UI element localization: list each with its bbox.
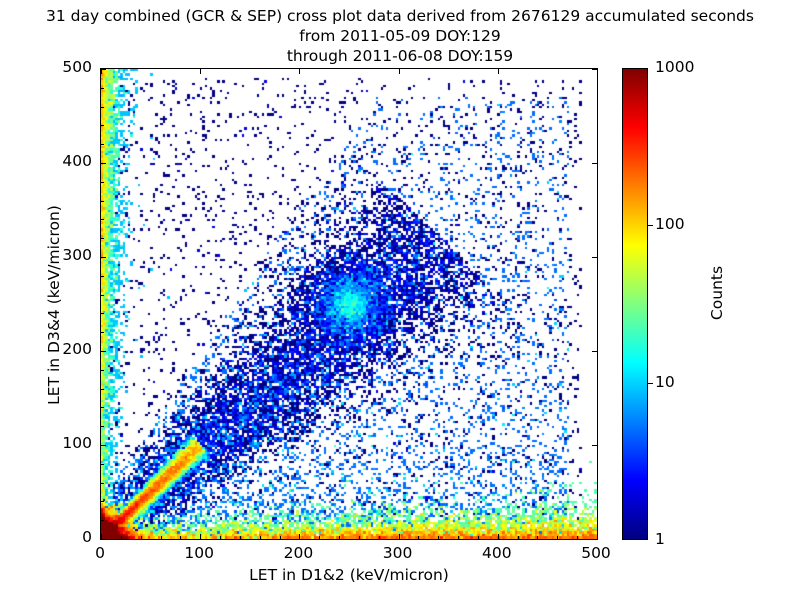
x-tick-minor xyxy=(577,536,578,539)
y-tick xyxy=(101,163,106,164)
x-tick-minor xyxy=(280,536,281,539)
x-tick-top xyxy=(597,69,598,74)
y-tick xyxy=(101,257,106,258)
y-tick-right xyxy=(592,69,597,70)
x-tick xyxy=(200,534,201,539)
y-tick-minor xyxy=(101,182,104,183)
y-tick-minor xyxy=(101,144,104,145)
y-tick-right xyxy=(592,163,597,164)
y-tick-minor xyxy=(101,276,104,277)
x-tick-minor xyxy=(379,536,380,539)
x-tick-top xyxy=(498,69,499,74)
x-tick-minor xyxy=(339,536,340,539)
y-tick-minor xyxy=(101,501,104,502)
x-tick-minor xyxy=(220,536,221,539)
x-tick-minor xyxy=(260,536,261,539)
x-tick xyxy=(597,534,598,539)
x-tick-top xyxy=(399,69,400,74)
x-tick-minor xyxy=(458,536,459,539)
y-tick-minor xyxy=(101,313,104,314)
x-tick-label: 400 xyxy=(467,544,527,562)
y-tick-label: 0 xyxy=(32,528,92,546)
x-tick-label: 0 xyxy=(70,544,130,562)
colorbar-tick xyxy=(648,383,653,384)
colorbar-tick-label: 10 xyxy=(655,373,675,391)
colorbar-tick-label: 1000 xyxy=(655,58,694,76)
colorbar-tick-label: 1 xyxy=(655,530,665,548)
y-tick-right xyxy=(592,257,597,258)
y-tick-minor xyxy=(101,295,104,296)
title-line-1: 31 day combined (GCR & SEP) cross plot d… xyxy=(0,6,800,26)
x-tick-minor xyxy=(359,536,360,539)
y-tick-minor xyxy=(101,389,104,390)
y-tick-minor xyxy=(101,107,104,108)
y-tick xyxy=(101,351,106,352)
title-line-2: from 2011-05-09 DOY:129 xyxy=(0,26,800,46)
x-tick-minor xyxy=(141,536,142,539)
y-tick-right xyxy=(592,539,597,540)
x-tick-minor xyxy=(537,536,538,539)
colorbar-tick-label: 100 xyxy=(655,215,685,233)
y-tick xyxy=(101,445,106,446)
y-tick-minor xyxy=(101,483,104,484)
x-tick-minor xyxy=(418,536,419,539)
x-tick-top xyxy=(200,69,201,74)
colorbar xyxy=(622,68,648,540)
x-tick-minor xyxy=(121,536,122,539)
colorbar-label: Counts xyxy=(708,203,726,383)
y-tick-minor xyxy=(101,520,104,521)
y-axis-label: LET in D3&4 (keV/micron) xyxy=(45,125,63,485)
y-tick-minor xyxy=(101,238,104,239)
y-tick xyxy=(101,539,106,540)
x-tick-label: 300 xyxy=(368,544,428,562)
y-tick-minor xyxy=(101,407,104,408)
plot-area xyxy=(100,68,598,540)
x-tick-minor xyxy=(180,536,181,539)
y-tick-minor xyxy=(101,464,104,465)
y-tick xyxy=(101,69,106,70)
colorbar-gradient xyxy=(623,69,647,539)
x-tick-minor xyxy=(240,536,241,539)
y-tick-minor xyxy=(101,370,104,371)
x-tick-minor xyxy=(478,536,479,539)
x-tick-label: 500 xyxy=(566,544,626,562)
x-tick-label: 200 xyxy=(268,544,328,562)
x-tick xyxy=(498,534,499,539)
y-tick-minor xyxy=(101,426,104,427)
x-tick-minor xyxy=(438,536,439,539)
y-tick-minor xyxy=(101,332,104,333)
y-tick-label: 500 xyxy=(32,58,92,76)
x-tick-minor xyxy=(518,536,519,539)
chart-title: 31 day combined (GCR & SEP) cross plot d… xyxy=(0,6,800,66)
x-tick-minor xyxy=(557,536,558,539)
y-tick-minor xyxy=(101,88,104,89)
x-tick-top xyxy=(299,69,300,74)
x-tick-label: 100 xyxy=(169,544,229,562)
x-tick xyxy=(299,534,300,539)
x-tick-minor xyxy=(319,536,320,539)
x-axis-label: LET in D1&2 (keV/micron) xyxy=(100,566,598,584)
scatter-density-plot xyxy=(101,69,597,539)
x-tick-minor xyxy=(161,536,162,539)
colorbar-tick xyxy=(648,225,653,226)
y-tick-right xyxy=(592,445,597,446)
y-tick-minor xyxy=(101,219,104,220)
y-tick-minor xyxy=(101,201,104,202)
y-tick-minor xyxy=(101,125,104,126)
y-tick-right xyxy=(592,351,597,352)
x-tick xyxy=(399,534,400,539)
